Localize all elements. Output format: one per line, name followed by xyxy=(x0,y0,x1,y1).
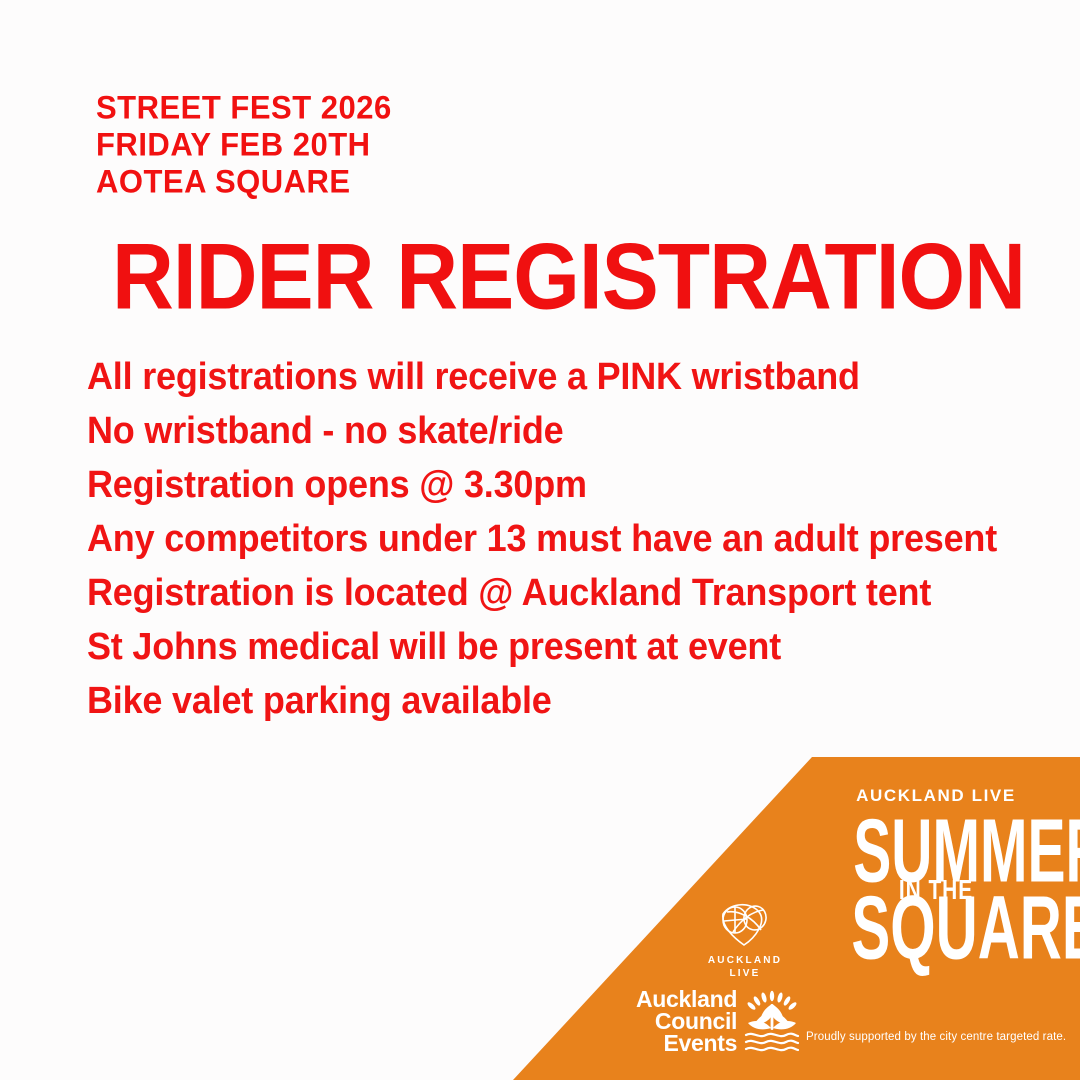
sponsor-fineprint: Proudly supported by the city centre tar… xyxy=(806,1031,1066,1043)
auckland-council-events-wordmark: Auckland Council Events xyxy=(636,988,737,1054)
page-title: RIDER REGISTRATION xyxy=(112,228,1025,324)
event-header-line-3: AOTEA SQUARE xyxy=(96,162,392,201)
auckland-live-heart-icon xyxy=(717,900,773,948)
list-item: St Johns medical will be present at even… xyxy=(87,618,997,675)
event-header: STREET FEST 2026 FRIDAY FEB 20TH AOTEA S… xyxy=(96,88,392,199)
list-item: No wristband - no skate/ride xyxy=(87,402,997,459)
registration-info-list: All registrations will receive a PINK wr… xyxy=(87,348,997,726)
auckland-live-logo: AUCKLAND LIVE xyxy=(706,900,784,980)
list-item: Registration is located @ Auckland Trans… xyxy=(87,564,997,621)
event-header-line-1: STREET FEST 2026 xyxy=(96,88,392,127)
summer-in-the-square-wordmark: SUMMER IN THE SQUARE xyxy=(846,816,1026,944)
poster-canvas: STREET FEST 2026 FRIDAY FEB 20TH AOTEA S… xyxy=(0,0,1080,1080)
council-line-2: Council xyxy=(636,1010,737,1032)
council-line-3: Events xyxy=(636,1032,737,1054)
council-line-1: Auckland xyxy=(636,988,737,1010)
list-item: Any competitors under 13 must have an ad… xyxy=(87,510,997,567)
summer-in-the-square-logo: AUCKLAND LIVE SUMMER IN THE SQUARE xyxy=(836,786,1036,944)
list-item: All registrations will receive a PINK wr… xyxy=(87,348,997,405)
auckland-council-pohutukawa-icon xyxy=(743,990,801,1052)
auckland-live-eyebrow-text: AUCKLAND LIVE xyxy=(836,786,1036,806)
auckland-council-events-logo: Auckland Council Events xyxy=(636,988,801,1054)
event-header-line-2: FRIDAY FEB 20TH xyxy=(96,125,392,164)
wordmark-in-the: IN THE xyxy=(851,874,1022,907)
list-item: Registration opens @ 3.30pm xyxy=(87,456,997,513)
auckland-live-name-line-1: AUCKLAND xyxy=(706,954,784,967)
list-item: Bike valet parking available xyxy=(87,672,997,729)
auckland-live-name-line-2: LIVE xyxy=(706,967,784,980)
wordmark-summer: SUMMER xyxy=(853,816,1019,890)
wordmark-square: SQUARE xyxy=(851,893,1020,967)
